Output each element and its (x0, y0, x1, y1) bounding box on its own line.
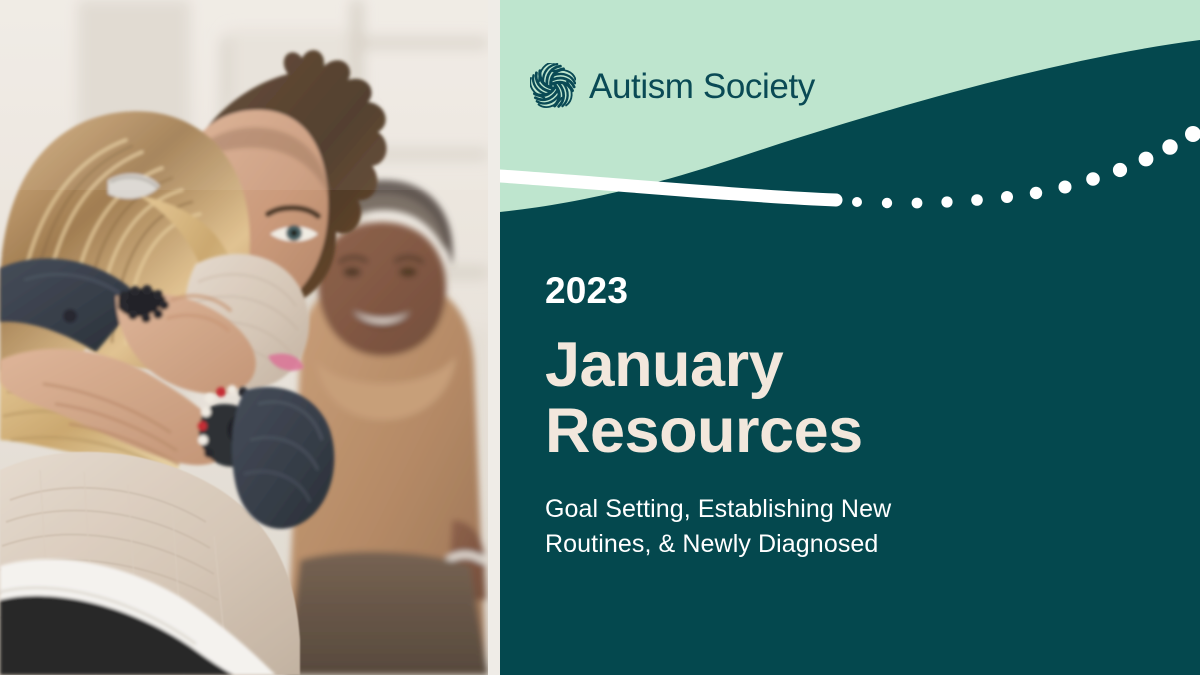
subtitle-text: Goal Setting, Establishing New Routines,… (545, 492, 945, 561)
brand-logo[interactable]: Autism Society (530, 63, 815, 109)
brand-wordmark: Autism Society (589, 69, 815, 104)
pinwheel-spiral-icon (530, 63, 576, 109)
hero-photo (0, 0, 488, 675)
headline-block: 2023 January Resources Goal Setting, Est… (545, 272, 1165, 561)
page-title: January Resources (545, 333, 875, 464)
content-panel: Autism Society 2023 January Resources Go… (500, 0, 1200, 675)
slide-canvas: Autism Society 2023 January Resources Go… (0, 0, 1200, 675)
year-label: 2023 (545, 272, 1165, 309)
photo-illustration (0, 0, 488, 675)
panel-gutter (488, 0, 500, 675)
